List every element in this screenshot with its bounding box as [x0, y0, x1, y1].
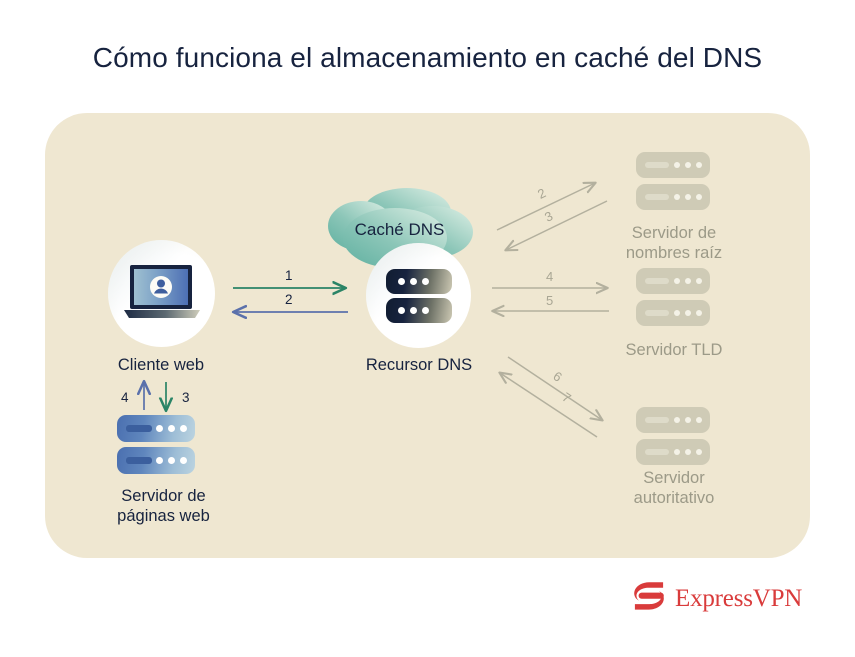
- dns-recursor-icon: [366, 243, 471, 348]
- authoritative-server-icon: [636, 407, 710, 465]
- web-page-server-icon: [117, 415, 195, 474]
- root-name-server-icon: [636, 152, 710, 210]
- flow-label-tld-5: 5: [546, 293, 553, 308]
- flow-label-2: 2: [285, 292, 293, 307]
- authoritative-server-label: Servidor autoritativo: [593, 468, 755, 508]
- flow-label-3: 3: [182, 390, 190, 405]
- expressvpn-logo: ExpressVPN: [632, 581, 802, 616]
- web-page-server-label: Servidor de páginas web: [76, 486, 251, 526]
- dns-recursor-label: Recursor DNS: [338, 355, 500, 375]
- flow-label-tld-4: 4: [546, 269, 553, 284]
- root-name-server-label: Servidor de nombres raíz: [593, 223, 755, 263]
- web-client-label: Cliente web: [81, 355, 241, 375]
- page-title: Cómo funciona el almacenamiento en caché…: [0, 42, 855, 74]
- tld-server-label: Servidor TLD: [593, 340, 755, 360]
- tld-server-icon: [636, 268, 710, 326]
- expressvpn-logo-text: ExpressVPN: [675, 585, 802, 613]
- cache-cloud-label: Caché DNS: [321, 220, 478, 240]
- web-client-icon: [108, 240, 215, 347]
- flow-label-1: 1: [285, 268, 293, 283]
- expressvpn-e-icon: [632, 581, 666, 616]
- flow-label-4: 4: [121, 390, 129, 405]
